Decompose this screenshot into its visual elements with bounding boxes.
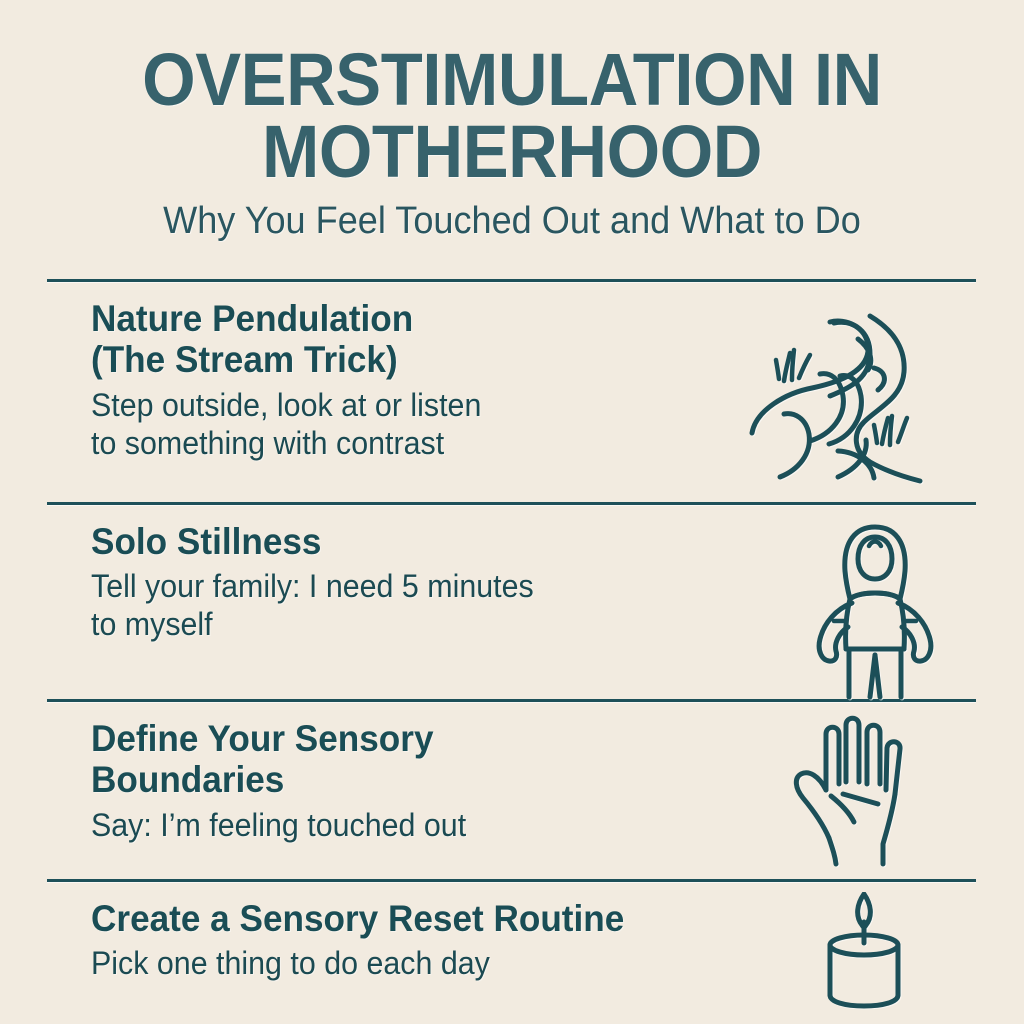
standing-person-icon xyxy=(776,515,976,700)
infographic-poster: Overstimulation in Motherhood Why You Fe… xyxy=(0,0,1024,1024)
tip-section-3: Define Your Sensory Boundaries Say: I’m … xyxy=(47,712,976,877)
divider-rule-4 xyxy=(47,879,976,882)
grass-tuft-right xyxy=(874,416,907,445)
page-subtitle: Why You Feel Touched Out and What to Do xyxy=(26,188,999,242)
tip-icon-wrap-3 xyxy=(791,712,976,872)
tip-section-1: Nature Pendulation (The Stream Trick) St… xyxy=(47,292,976,498)
tip-heading-4: Create a Sensory Reset Routine xyxy=(91,898,775,939)
tip-heading-1: Nature Pendulation (The Stream Trick) xyxy=(91,298,713,381)
tip-icon-wrap-2 xyxy=(776,515,976,700)
tip-body-3: Say: I’m feeling touched out xyxy=(91,807,756,845)
tip-icon-wrap-4 xyxy=(811,892,976,1017)
divider-rule-1 xyxy=(47,279,976,282)
tip-section-4: Create a Sensory Reset Routine Pick one … xyxy=(47,892,976,1017)
tip-text-block-4: Create a Sensory Reset Routine Pick one … xyxy=(47,892,811,983)
grass-tuft-left xyxy=(776,350,810,381)
tip-heading-2: Solo Stillness xyxy=(91,521,742,562)
tip-section-2: Solo Stillness Tell your family: I need … xyxy=(47,515,976,697)
divider-rule-2 xyxy=(47,502,976,505)
tip-text-block-2: Solo Stillness Tell your family: I need … xyxy=(47,515,776,644)
tip-body-4: Pick one thing to do each day xyxy=(91,945,775,983)
tip-icon-wrap-1 xyxy=(746,292,976,487)
page-title: Overstimulation in Motherhood xyxy=(36,0,988,188)
tip-text-block-1: Nature Pendulation (The Stream Trick) St… xyxy=(47,292,746,462)
candle-icon xyxy=(811,892,976,1017)
stream-icon xyxy=(746,292,976,487)
tip-text-block-3: Define Your Sensory Boundaries Say: I’m … xyxy=(47,712,791,845)
tip-heading-3: Define Your Sensory Boundaries xyxy=(91,718,756,801)
open-hand-icon xyxy=(791,712,976,872)
tip-body-2: Tell your family: I need 5 minutes to my… xyxy=(91,568,742,644)
tip-body-1: Step outside, look at or listen to somet… xyxy=(91,387,713,463)
poster-header: Overstimulation in Motherhood Why You Fe… xyxy=(0,0,1024,241)
